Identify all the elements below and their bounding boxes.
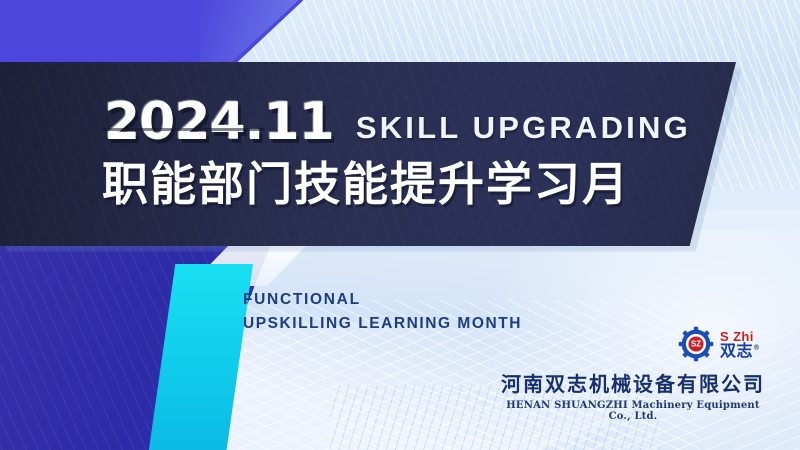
cyan-band-shape [148, 264, 253, 450]
banner-texture [0, 62, 736, 246]
year-strike-decor [102, 128, 265, 131]
skill-upgrading-text: SKILL UPGRADING [356, 112, 691, 148]
headline-row: 2024.11 SKILL UPGRADING [104, 96, 691, 148]
company-name-block: 河南双志机械设备有限公司 HENAN SHUANGZHI Machinery E… [498, 372, 768, 422]
company-name-en: HENAN SHUANGZHI Machinery Equipment Co.,… [498, 400, 768, 422]
poster-canvas: 2024.11 SKILL UPGRADING 职能部门技能提升学习月 FUNC… [0, 0, 800, 450]
company-logo: SZ S Zhi 双志® [678, 326, 761, 362]
white-sliver-shape [176, 246, 306, 286]
company-name-cn: 河南双志机械设备有限公司 [498, 372, 768, 396]
chinese-title: 职能部门技能提升学习月 [102, 158, 630, 211]
purple-wedge-fade [200, 0, 370, 66]
subtitle-line-2: UPSKILLING LEARNING MONTH [243, 312, 522, 336]
logo-brand-cn: 双志® [720, 343, 761, 359]
year-label: 2024.11 [104, 96, 334, 148]
gear-icon: SZ [678, 326, 714, 362]
year-text: 2024.11 [104, 92, 334, 152]
subtitle-block: FUNCTIONAL UPSKILLING LEARNING MONTH [243, 288, 522, 336]
blue-block-texture [0, 246, 270, 450]
logo-mark-text: SZ [691, 340, 701, 349]
purple-wedge-shape [0, 0, 310, 66]
registered-mark: ® [753, 343, 761, 351]
blue-block-shape [0, 246, 270, 450]
logo-wordmark: S Zhi 双志® [720, 330, 761, 359]
subtitle-line-1: FUNCTIONAL [243, 288, 522, 312]
